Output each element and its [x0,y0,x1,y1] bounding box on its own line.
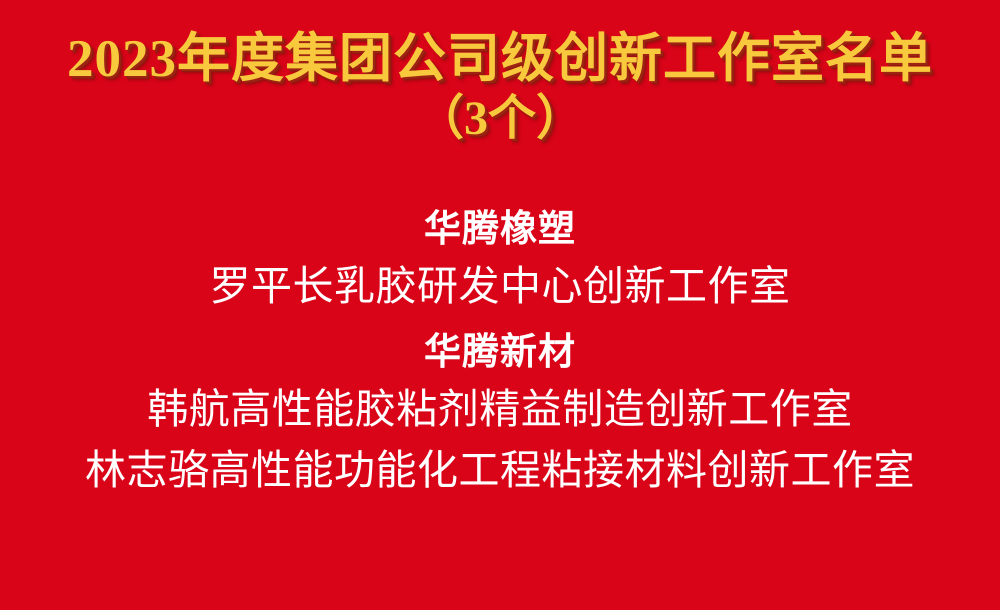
group-heading: 华腾橡塑 [0,200,1000,256]
group-block: 华腾新材 韩航高性能胶粘剂精益制造创新工作室 林志骆高性能功能化工程粘接材料创新… [0,323,1000,501]
group-block: 华腾橡塑 罗平长乳胶研发中心创新工作室 [0,200,1000,317]
poster-canvas: 2023年度集团公司级创新工作室名单 （3个） 华腾橡塑 罗平长乳胶研发中心创新… [0,0,1000,610]
studio-list-region: 华腾橡塑 罗平长乳胶研发中心创新工作室 华腾新材 韩航高性能胶粘剂精益制造创新工… [0,200,1000,501]
poster-title-block: 2023年度集团公司级创新工作室名单 （3个） [0,0,1000,148]
group-heading: 华腾新材 [0,323,1000,379]
page-title-count: （3个） [0,91,1000,148]
list-item: 罗平长乳胶研发中心创新工作室 [0,256,1000,317]
list-item: 林志骆高性能功能化工程粘接材料创新工作室 [0,440,1000,501]
list-item: 韩航高性能胶粘剂精益制造创新工作室 [0,379,1000,440]
page-title: 2023年度集团公司级创新工作室名单 [0,30,1000,89]
